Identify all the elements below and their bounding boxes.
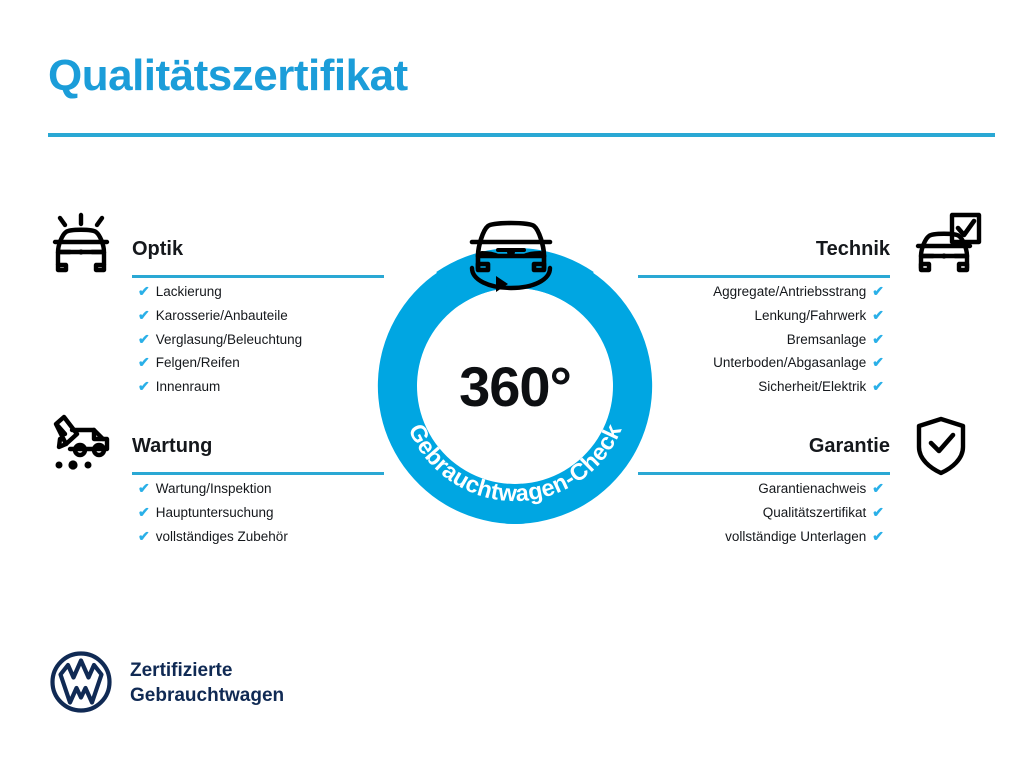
section-technik-header: Technik: [638, 236, 890, 280]
list-item-label: Innenraum: [156, 379, 221, 394]
section-optik-list: ✔Lackierung ✔Karosserie/Anbauteile ✔Verg…: [132, 280, 384, 399]
list-item: ✔vollständiges Zubehör: [138, 525, 384, 549]
section-wartung-list: ✔Wartung/Inspektion ✔Hauptuntersuchung ✔…: [132, 477, 384, 548]
list-item-label: Garantienachweis: [758, 481, 866, 496]
section-garantie-list: Garantienachweis✔ Qualitätszertifikat✔ v…: [638, 477, 890, 548]
list-item: Garantienachweis✔: [638, 477, 884, 501]
list-item: ✔Verglasung/Beleuchtung: [138, 328, 384, 352]
list-item-label: Lackierung: [156, 284, 222, 299]
car-rotate-360-icon: [452, 202, 570, 297]
section-technik-title: Technik: [638, 236, 890, 262]
check-icon: ✔: [138, 528, 150, 544]
list-item-label: Bremsanlage: [787, 332, 867, 347]
vw-wordmark-line2: Gebrauchtwagen: [130, 683, 284, 708]
shield-check-icon: [906, 414, 976, 478]
check-icon: ✔: [138, 307, 150, 323]
volkswagen-logo-icon: [50, 651, 112, 713]
list-item: Aggregate/Antriebsstrang✔: [638, 280, 884, 304]
list-item-label: Lenkung/Fahrwerk: [754, 308, 866, 323]
list-item-label: Verglasung/Beleuchtung: [156, 332, 302, 347]
check-icon: ✔: [872, 480, 884, 496]
check-icon: ✔: [138, 354, 150, 370]
quality-certificate-page: Qualitätszertifikat: [0, 0, 1024, 768]
list-item: ✔Wartung/Inspektion: [138, 477, 384, 501]
check-icon: ✔: [872, 528, 884, 544]
list-item-label: Felgen/Reifen: [156, 355, 240, 370]
pencil-car-service-icon: [46, 412, 116, 476]
check-icon: ✔: [872, 378, 884, 394]
list-item: ✔Hauptuntersuchung: [138, 501, 384, 525]
list-item-label: Karosserie/Anbauteile: [156, 308, 288, 323]
check-icon: ✔: [872, 504, 884, 520]
section-technik-divider: [638, 275, 890, 278]
check-icon: ✔: [138, 331, 150, 347]
page-title: Qualitätszertifikat: [48, 52, 408, 100]
list-item: vollständige Unterlagen✔: [638, 525, 884, 549]
check-icon: ✔: [872, 307, 884, 323]
section-wartung-header: Wartung: [132, 433, 384, 477]
section-optik: Optik ✔Lackierung ✔Karosserie/Anbauteile…: [132, 236, 384, 399]
section-wartung-divider: [132, 472, 384, 475]
list-item-label: Qualitätszertifikat: [763, 505, 867, 520]
list-item-label: Sicherheit/Elektrik: [758, 379, 866, 394]
list-item: Bremsanlage✔: [638, 328, 884, 352]
section-garantie-divider: [638, 472, 890, 475]
list-item: ✔Felgen/Reifen: [138, 351, 384, 375]
section-technik: Technik Aggregate/Antriebsstrang✔ Lenkun…: [638, 236, 890, 399]
list-item: ✔Lackierung: [138, 280, 384, 304]
section-technik-list: Aggregate/Antriebsstrang✔ Lenkung/Fahrwe…: [638, 280, 890, 399]
list-item: Sicherheit/Elektrik✔: [638, 375, 884, 399]
section-garantie-title: Garantie: [638, 433, 890, 459]
list-item: Qualitätszertifikat✔: [638, 501, 884, 525]
list-item-label: Unterboden/Abgasanlage: [713, 355, 866, 370]
section-garantie-header: Garantie: [638, 433, 890, 477]
section-wartung: Wartung ✔Wartung/Inspektion ✔Hauptunters…: [132, 433, 384, 548]
check-icon: ✔: [872, 283, 884, 299]
section-wartung-title: Wartung: [132, 433, 384, 459]
vw-wordmark: Zertifizierte Gebrauchtwagen: [130, 658, 284, 708]
section-optik-header: Optik: [132, 236, 384, 280]
list-item-label: vollständige Unterlagen: [725, 529, 866, 544]
check-icon: ✔: [872, 331, 884, 347]
section-garantie: Garantie Garantienachweis✔ Qualitätszert…: [638, 433, 890, 548]
list-item-label: Hauptuntersuchung: [156, 505, 274, 520]
check-icon: ✔: [138, 480, 150, 496]
check-icon: ✔: [872, 354, 884, 370]
list-item: Lenkung/Fahrwerk✔: [638, 304, 884, 328]
list-item: ✔Karosserie/Anbauteile: [138, 304, 384, 328]
check-icon: ✔: [138, 504, 150, 520]
title-divider: [48, 133, 995, 137]
list-item: Unterboden/Abgasanlage✔: [638, 351, 884, 375]
section-optik-title: Optik: [132, 236, 384, 262]
list-item-label: Aggregate/Antriebsstrang: [713, 284, 866, 299]
list-item: ✔Innenraum: [138, 375, 384, 399]
shiny-car-front-icon: [46, 212, 116, 276]
vw-wordmark-line1: Zertifizierte: [130, 658, 284, 683]
section-optik-divider: [132, 275, 384, 278]
car-front-checkbox-icon: [912, 212, 982, 276]
check-icon: ✔: [138, 283, 150, 299]
list-item-label: vollständiges Zubehör: [156, 529, 288, 544]
check-icon: ✔: [138, 378, 150, 394]
list-item-label: Wartung/Inspektion: [156, 481, 272, 496]
